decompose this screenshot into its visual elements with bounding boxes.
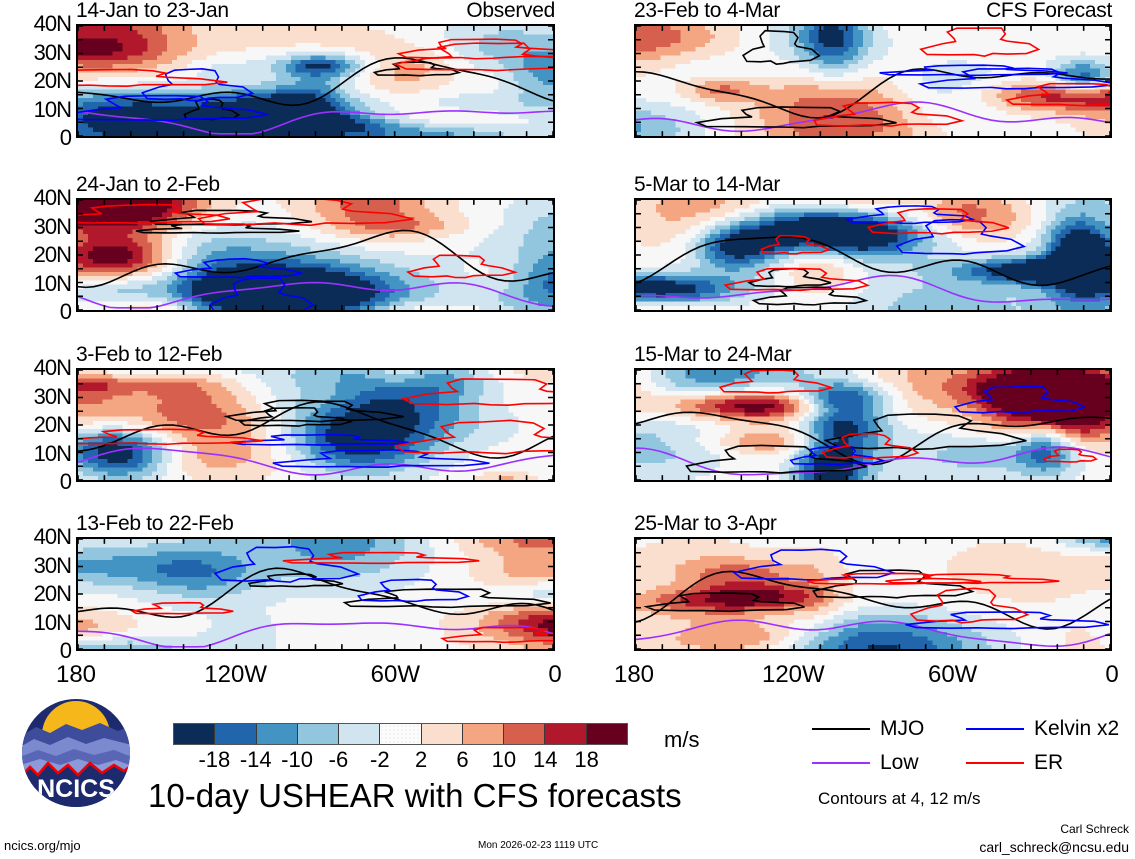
colorbar-swatches — [173, 723, 628, 745]
colorbar-bin — [380, 724, 421, 744]
colorbar-tick-label: 14 — [533, 747, 557, 773]
map-plot-area — [634, 24, 1112, 138]
y-axis-tick-label: 10N — [34, 97, 71, 123]
map-plot-area — [634, 198, 1112, 312]
site-url: ncics.org/mjo — [4, 838, 81, 853]
column-header: CFS Forecast — [986, 0, 1112, 23]
y-axis-tick-label: 20N — [34, 242, 71, 268]
author-name: Carl Schreck — [1060, 822, 1129, 836]
map-panel: 23-Feb to 4-MarCFS Forecast — [634, 24, 1112, 138]
y-axis-tick-label: 40N — [34, 524, 71, 550]
axis-ticks — [636, 370, 1110, 480]
map-panel: 24-Jan to 2-Feb40N30N20N10N0 — [76, 198, 555, 312]
map-plot-area — [634, 368, 1112, 482]
y-axis-tick-label: 10N — [34, 610, 71, 636]
map-panel: 13-Feb to 22-Feb40N30N20N10N0180120W60W0 — [76, 537, 555, 651]
y-axis-tick-label: 20N — [34, 412, 71, 438]
colorbar-tick-label: 6 — [456, 747, 468, 773]
y-axis-tick-label: 40N — [34, 11, 71, 37]
axis-ticks — [78, 539, 553, 649]
legend-item: Kelvin x2 — [966, 717, 1119, 741]
legend-item: Low — [812, 751, 919, 775]
colorbar: -18-14-10-6-226101418 — [173, 723, 628, 745]
y-axis-tick-label: 30N — [34, 553, 71, 579]
panel-title: 3-Feb to 12-Feb — [76, 343, 222, 367]
y-axis-tick-label: 30N — [34, 214, 71, 240]
map-plot-area — [634, 537, 1112, 651]
y-axis-tick-label: 0 — [60, 299, 71, 325]
author-email: carl_schreck@ncsu.edu — [979, 839, 1129, 855]
colorbar-tick-label: -6 — [329, 747, 349, 773]
colorbar-bin — [545, 724, 586, 744]
colorbar-tick-label: -18 — [198, 747, 230, 773]
figure-root: 14-Jan to 23-JanObserved40N30N20N10N024-… — [0, 0, 1135, 859]
colorbar-tick-label: 2 — [415, 747, 427, 773]
panel-title: 24-Jan to 2-Feb — [76, 173, 220, 197]
page-title: 10-day USHEAR with CFS forecasts — [148, 777, 682, 815]
y-axis-tick-label: 20N — [34, 68, 71, 94]
panel-title: 14-Jan to 23-Jan — [76, 0, 229, 23]
axis-ticks — [78, 370, 553, 480]
colorbar-tick-label: -10 — [281, 747, 313, 773]
map-panel: 25-Mar to 3-Apr180120W60W0 — [634, 537, 1112, 651]
y-axis-tick-label: 0 — [60, 125, 71, 151]
axis-ticks — [636, 26, 1110, 136]
x-axis-tick-label: 120W — [204, 661, 267, 689]
map-plot-area — [76, 198, 555, 312]
map-plot-area — [76, 24, 555, 138]
y-axis-tick-label: 30N — [34, 40, 71, 66]
ncics-logo: NCICS — [20, 697, 132, 809]
legend-item: MJO — [812, 717, 924, 741]
legend-label: MJO — [880, 717, 924, 741]
colorbar-bin — [257, 724, 298, 744]
colorbar-bin — [174, 724, 215, 744]
x-axis-tick-label: 60W — [928, 661, 977, 689]
x-axis-tick-label: 120W — [762, 661, 825, 689]
colorbar-bin — [587, 724, 627, 744]
colorbar-bin — [298, 724, 339, 744]
legend-line-swatch — [966, 728, 1024, 730]
axis-ticks — [636, 200, 1110, 310]
panel-title: 13-Feb to 22-Feb — [76, 512, 233, 536]
map-panel: 14-Jan to 23-JanObserved40N30N20N10N0 — [76, 24, 555, 138]
y-axis-tick-label: 40N — [34, 185, 71, 211]
legend-label: Low — [880, 751, 919, 775]
panel-title: 5-Mar to 14-Mar — [634, 173, 780, 197]
y-axis-tick-label: 0 — [60, 469, 71, 495]
colorbar-bin — [339, 724, 380, 744]
logo-label: NCICS — [37, 775, 115, 803]
colorbar-tick-label: -14 — [240, 747, 272, 773]
legend-label: ER — [1034, 751, 1063, 775]
column-header: Observed — [466, 0, 555, 23]
panel-title: 23-Feb to 4-Mar — [634, 0, 780, 23]
axis-ticks — [78, 200, 553, 310]
colorbar-tick-label: 18 — [574, 747, 598, 773]
legend-line-swatch — [812, 728, 870, 730]
x-axis-tick-label: 60W — [371, 661, 420, 689]
y-axis-tick-label: 20N — [34, 581, 71, 607]
x-axis-tick-label: 0 — [548, 661, 561, 689]
colorbar-units-label: m/s — [664, 727, 699, 753]
map-panel: 5-Mar to 14-Mar — [634, 198, 1112, 312]
y-axis-tick-label: 10N — [34, 441, 71, 467]
map-panel: 3-Feb to 12-Feb40N30N20N10N0 — [76, 368, 555, 482]
map-plot-area — [76, 537, 555, 651]
x-axis-tick-label: 180 — [614, 661, 654, 689]
x-axis-tick-label: 0 — [1105, 661, 1118, 689]
contours-note: Contours at 4, 12 m/s — [818, 789, 981, 809]
colorbar-tick-label: -2 — [370, 747, 390, 773]
panel-title: 15-Mar to 24-Mar — [634, 343, 791, 367]
y-axis-tick-label: 10N — [34, 271, 71, 297]
map-plot-area — [76, 368, 555, 482]
axis-ticks — [636, 539, 1110, 649]
colorbar-bin — [422, 724, 463, 744]
colorbar-bin — [504, 724, 545, 744]
colorbar-bin — [215, 724, 256, 744]
legend-label: Kelvin x2 — [1034, 717, 1119, 741]
panel-title: 25-Mar to 3-Apr — [634, 512, 777, 536]
y-axis-tick-label: 30N — [34, 384, 71, 410]
colorbar-tick-label: 10 — [492, 747, 516, 773]
y-axis-tick-label: 40N — [34, 355, 71, 381]
legend-item: ER — [966, 751, 1063, 775]
x-axis-tick-label: 180 — [56, 661, 96, 689]
colorbar-bin — [463, 724, 504, 744]
legend-line-swatch — [966, 762, 1024, 764]
axis-ticks — [78, 26, 553, 136]
legend-line-swatch — [812, 762, 870, 764]
timestamp: Mon 2026-02-23 1119 UTC — [478, 840, 598, 851]
map-panel: 15-Mar to 24-Mar — [634, 368, 1112, 482]
